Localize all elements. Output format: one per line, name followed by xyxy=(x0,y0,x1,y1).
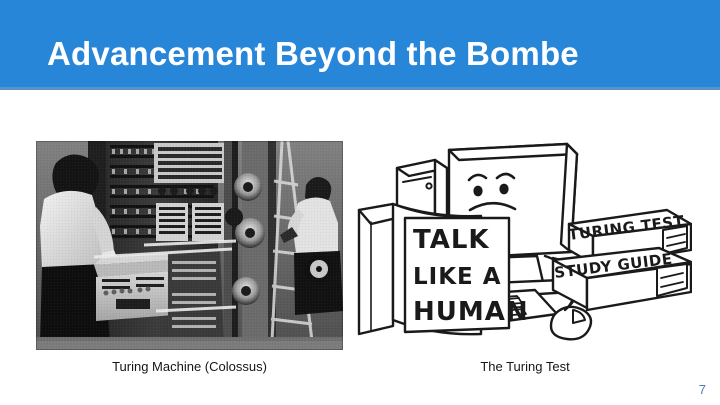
colossus-photo xyxy=(36,141,343,350)
colossus-photo-image xyxy=(36,141,343,350)
book-text-line-2: LIKE A xyxy=(413,264,502,290)
slide: Advancement Beyond the Bombe xyxy=(0,0,720,405)
book-text-line-1: TALK xyxy=(413,225,490,255)
book-text-line-3: HUMAN xyxy=(413,297,529,327)
turing-test-cartoon: TALK LIKE A HUMAN xyxy=(357,138,692,352)
turing-test-cartoon-image: TALK LIKE A HUMAN xyxy=(357,138,692,352)
caption-turing-test: The Turing Test xyxy=(390,359,660,374)
page-number: 7 xyxy=(699,382,706,397)
page-title: Advancement Beyond the Bombe xyxy=(47,33,579,75)
caption-colossus: Turing Machine (Colossus) xyxy=(36,359,343,374)
title-band-shadow xyxy=(0,87,720,90)
